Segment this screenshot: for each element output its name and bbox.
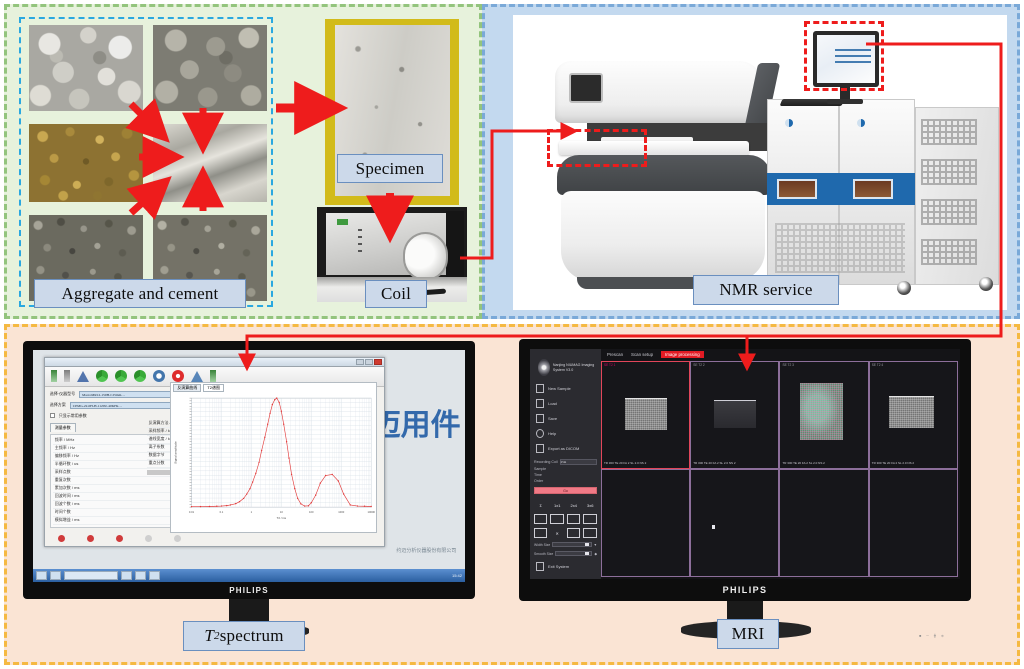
tool-flip-vertical-icon[interactable] — [567, 514, 580, 524]
field-value[interactable]: 25m — [560, 459, 597, 465]
nmr-inversion-app-window[interactable]: 选择·仪器型号 MacroMR12-150H-I 25mm… 选择方案 CPMG… — [44, 357, 385, 547]
tool-layout-3x6[interactable]: 3x6 — [583, 500, 596, 510]
monitor-brand-left: PHILIPS — [33, 582, 465, 599]
param-key: 主频率 / Hz — [53, 445, 147, 451]
field-label: Time — [534, 473, 542, 477]
photo-fine-sand — [29, 124, 143, 202]
tool-rotate-right-icon[interactable] — [550, 514, 563, 524]
callout-t2-rest: spectrum — [220, 626, 284, 646]
go-button[interactable]: Go — [534, 487, 597, 494]
menu-item-export-dicom[interactable]: Export as DICOM — [536, 444, 597, 453]
taskbar-app-icon[interactable] — [135, 571, 146, 580]
tab-image-processing[interactable]: Image processing — [661, 351, 704, 358]
osd-menu-icon[interactable]: ■ — [919, 634, 921, 638]
stop-button-icon[interactable] — [87, 535, 94, 542]
param-key: 偏移频率 / Hz — [53, 453, 147, 459]
figure-canvas: 迈用件 约迈分析仪器股份有限公司 — [0, 0, 1024, 669]
t2-spectrum-chart-pane: 反演算曲线 T2谱图 0.010.1110100100010000T2 / ms… — [170, 382, 377, 533]
slider-smooth-size[interactable]: Smooth Size ◆ — [534, 551, 597, 556]
param-key: 时间个数 — [53, 509, 147, 515]
mri-tool-grid[interactable]: Σ 1x1 2x4 3x6 ✕ — [534, 500, 597, 538]
menu-label: Export as DICOM — [548, 446, 579, 451]
mri-cell-3[interactable]: SE T2 3 TR 300 TE 20 FA 2 SL 2.0 NS 2 — [779, 361, 868, 469]
tool-delete-icon[interactable]: ✕ — [550, 528, 563, 538]
cell-header: SE T2 1 — [604, 363, 615, 367]
slider-track[interactable] — [555, 551, 592, 556]
recycle-icon[interactable] — [115, 370, 127, 382]
open-file-icon[interactable] — [51, 370, 57, 382]
cell-header: SE T2 3 — [782, 363, 793, 367]
svg-text:Signal amplitude: Signal amplitude — [174, 441, 178, 464]
cell-header: SE T2 4 — [872, 363, 883, 367]
app-titlebar[interactable] — [45, 358, 384, 367]
export-icon[interactable] — [210, 370, 216, 382]
field-label: Recording Coil — [534, 460, 558, 464]
filter-icon[interactable]: ▼ — [594, 543, 597, 547]
svg-text:0.1: 0.1 — [220, 510, 224, 514]
osd-minus-icon[interactable]: ─ — [926, 634, 929, 638]
cell-footer: TR 300 TE 20 FA 2 SL 2.0 NS 2 — [693, 462, 735, 466]
exit-system-button[interactable]: Exit System — [536, 562, 569, 571]
param-key: 频率 / MHz — [53, 437, 147, 443]
param-key: 累加次数 / ms — [53, 485, 147, 491]
menu-item-save[interactable]: Save — [536, 414, 597, 423]
mri-cell-1[interactable]: SE T2 1 TR 300 TE 20 FA 2 SL 2.0 NS 2 — [601, 361, 690, 469]
save-file-icon[interactable] — [64, 370, 70, 382]
instrument-touchscreen-icon — [569, 73, 603, 103]
taskbar-window-button[interactable] — [64, 571, 118, 580]
help-icon — [536, 429, 544, 438]
menu-label: New Sample — [548, 386, 571, 391]
slider-label: Smooth Size — [534, 552, 553, 556]
field-order[interactable]: Order — [534, 479, 597, 483]
param-key: 重复次数 — [53, 477, 147, 483]
callout-t2-spectrum: T2 spectrum — [183, 621, 305, 651]
tool-crop-icon[interactable] — [534, 528, 547, 538]
mri-cell-6[interactable] — [690, 469, 779, 577]
callout-coil: Coil — [365, 280, 427, 308]
explorer-icon[interactable] — [50, 571, 61, 580]
param-key: 半循环数 / us — [53, 461, 147, 467]
osd-plus-icon[interactable]: ╋ — [934, 634, 936, 638]
mri-menu[interactable]: New Sample Load Save Help — [536, 384, 597, 453]
invert-button-icon[interactable] — [116, 535, 123, 542]
vendor-logo-icon — [857, 119, 865, 127]
field-label: Sample — [534, 467, 546, 471]
field-time[interactable]: Time — [534, 473, 597, 477]
clear-button-icon[interactable] — [174, 535, 181, 542]
taskbar-app-icon[interactable] — [121, 571, 132, 580]
monitor-mri: 22.5V Nanjing NIUMAG Imaging System V3.0… — [519, 339, 971, 641]
window-controls[interactable] — [356, 359, 382, 365]
new-sample-icon — [536, 384, 544, 393]
field-recording-coil[interactable]: Recording Coil 25m — [534, 459, 597, 465]
highlight-operator-monitor — [804, 21, 884, 91]
app-footer-buttons[interactable] — [58, 535, 181, 542]
field-sample[interactable]: Sample — [534, 467, 597, 471]
tab-inversion-curve[interactable]: 反演算曲线 — [173, 384, 201, 392]
exit-icon — [536, 562, 544, 571]
chart-tabbar[interactable]: 反演算曲线 T2谱图 — [171, 383, 376, 393]
svg-text:10: 10 — [280, 510, 283, 514]
menu-item-load[interactable]: Load — [536, 399, 597, 408]
niumag-logo-icon — [538, 359, 550, 376]
menu-item-help[interactable]: Help — [536, 429, 597, 438]
tab-t2-spectrum[interactable]: T2谱图 — [203, 384, 224, 392]
photo-coarse-aggregate-dark — [153, 25, 267, 111]
taskbar-clock[interactable]: 15:42 — [452, 573, 462, 578]
param-key: 采样点数 — [53, 469, 147, 475]
cell-footer: TR 300 TE 20 FA 2 SL 2.0 NS 2 — [782, 462, 824, 466]
settings-icon[interactable] — [153, 370, 165, 382]
show-common-params-label: 只显示常用参数 — [59, 413, 87, 419]
mri-cell-7[interactable] — [779, 469, 868, 577]
start-button-icon[interactable] — [58, 535, 65, 542]
mouse-cursor-icon — [712, 525, 715, 529]
save-icon — [536, 414, 544, 423]
tool-layout-2x4[interactable]: 2x4 — [567, 500, 580, 510]
cell-header: SE T2 2 — [693, 363, 704, 367]
callout-t2-symbol: T — [204, 626, 214, 646]
mri-image-specimen — [889, 396, 934, 428]
tool-merge-icon[interactable] — [583, 528, 596, 538]
svg-text:100: 100 — [309, 510, 314, 514]
mri-cell-2[interactable]: SE T2 2 TR 300 TE 20 FA 2 SL 2.0 NS 2 — [690, 361, 779, 469]
highlight-sample-tray — [547, 129, 647, 167]
instrument-model-label: 选择·仪器型号 — [50, 391, 75, 397]
mri-image-specimen — [800, 383, 844, 440]
protocol-label: 选择方案 — [50, 402, 66, 408]
svg-text:1000: 1000 — [339, 510, 345, 514]
tool-sigma-icon[interactable]: Σ — [534, 500, 547, 510]
record-icon[interactable] — [172, 370, 184, 382]
recalculate-icon[interactable] — [134, 370, 146, 382]
slider-label: Width Size — [534, 543, 550, 547]
photo-coarse-aggregate-light — [29, 25, 143, 111]
callout-aggregate-and-cement: Aggregate and cement — [34, 279, 246, 308]
tab-scan-setup[interactable]: Scan setup — [631, 352, 653, 357]
slider-thumb[interactable] — [585, 552, 589, 555]
callout-mri: MRI — [717, 619, 779, 649]
smooth-icon[interactable]: ◆ — [594, 552, 597, 556]
caster-wheel-icon — [979, 277, 993, 291]
mri-sidebar: Nanjing NIUMAG Imaging System V3.0 New S… — [530, 349, 601, 579]
tab-measurement-params[interactable]: 测量参数 — [50, 423, 76, 432]
svg-text:0.01: 0.01 — [189, 510, 195, 514]
callout-specimen: Specimen — [337, 154, 443, 183]
maximize-icon[interactable] — [365, 359, 373, 365]
callout-nmr-service: NMR service — [693, 275, 839, 305]
mri-image-grid: SE T2 1 TR 300 TE 20 FA 2 SL 2.0 NS 2 SE… — [601, 361, 958, 577]
mri-image-specimen — [714, 400, 756, 428]
svg-text:1: 1 — [251, 510, 253, 514]
refresh-icon[interactable] — [96, 370, 108, 382]
svg-text:T2 / ms: T2 / ms — [277, 516, 287, 520]
panel-nmr-service — [482, 4, 1020, 319]
export-button-icon[interactable] — [145, 535, 152, 542]
mri-image-specimen — [625, 398, 667, 430]
mri-logo-text: Nanjing NIUMAG Imaging System V3.0 — [553, 363, 597, 372]
param-key: 回波时间 / ms — [53, 493, 147, 499]
tool-copy-icon[interactable] — [567, 528, 580, 538]
param-key: 模拟增益 / ms — [53, 517, 147, 523]
tool-layout-1x1[interactable]: 1x1 — [550, 500, 563, 510]
vendor-logo-icon — [785, 119, 793, 127]
slider-track[interactable] — [552, 542, 591, 547]
mri-cell-4[interactable]: SE T2 4 TR 300 TE 20 FA 2 SL 2.0 NS 2 — [869, 361, 958, 469]
minimize-icon[interactable] — [356, 359, 364, 365]
menu-label: Save — [548, 416, 557, 421]
cell-footer: TR 300 TE 20 FA 2 SL 2.0 NS 2 — [872, 462, 914, 466]
export-dicom-icon — [536, 444, 544, 453]
cell-footer: TR 300 TE 20 FA 2 SL 2.0 NS 2 — [604, 462, 646, 466]
svg-text:10000: 10000 — [368, 510, 376, 514]
screen-mri-console: 22.5V Nanjing NIUMAG Imaging System V3.0… — [530, 349, 960, 579]
mri-cell-8[interactable] — [869, 469, 958, 577]
param-key: 回波个数 / ms — [53, 501, 147, 507]
mri-tabbar[interactable]: Prescan Scan setup Image processing — [601, 349, 960, 360]
close-icon[interactable] — [374, 359, 382, 365]
slider-width-size[interactable]: Width Size ▼ — [534, 542, 597, 547]
show-common-params-checkbox[interactable] — [50, 413, 55, 418]
mri-logo: Nanjing NIUMAG Imaging System V3.0 — [538, 359, 597, 376]
menu-item-new-sample[interactable]: New Sample — [536, 384, 597, 393]
photo-cement-powder — [153, 124, 267, 202]
tool-flip-horizontal-icon[interactable] — [583, 514, 596, 524]
menu-label: Help — [548, 431, 556, 436]
play-icon[interactable] — [77, 371, 89, 382]
monitor-brand-right: PHILIPS — [530, 579, 960, 601]
osd-power-icon[interactable]: ⎈ — [941, 634, 944, 638]
menu-label: Load — [548, 401, 557, 406]
tool-rotate-left-icon[interactable] — [534, 514, 547, 524]
mri-cell-5[interactable] — [601, 469, 690, 577]
screen-nmr-software: 迈用件 约迈分析仪器股份有限公司 — [33, 350, 465, 582]
taskbar-app-icon[interactable] — [149, 571, 160, 580]
warning-icon[interactable] — [191, 371, 203, 382]
start-menu-icon[interactable] — [36, 571, 47, 580]
tab-prescan[interactable]: Prescan — [607, 352, 623, 357]
monitor-osd-buttons[interactable]: ■ ─ ╋ ⎈ — [919, 634, 944, 638]
t2-spectrum-plot: 0.010.1110100100010000T2 / msSignal ampl… — [171, 393, 376, 521]
mri-main-area: Prescan Scan setup Image processing SE T… — [601, 349, 960, 579]
field-label: Order — [534, 479, 543, 483]
windows-taskbar[interactable]: 15:42 — [33, 569, 465, 582]
panel-results: 迈用件 约迈分析仪器股份有限公司 — [4, 324, 1020, 665]
monitor-t2-spectrum: 迈用件 约迈分析仪器股份有限公司 — [23, 341, 475, 641]
load-icon — [536, 399, 544, 408]
caster-wheel-icon — [897, 281, 911, 295]
exit-label: Exit System — [548, 564, 569, 569]
slider-thumb[interactable] — [585, 543, 589, 546]
software-vendor-footer: 约迈分析仪器股份有限公司 — [396, 547, 456, 554]
